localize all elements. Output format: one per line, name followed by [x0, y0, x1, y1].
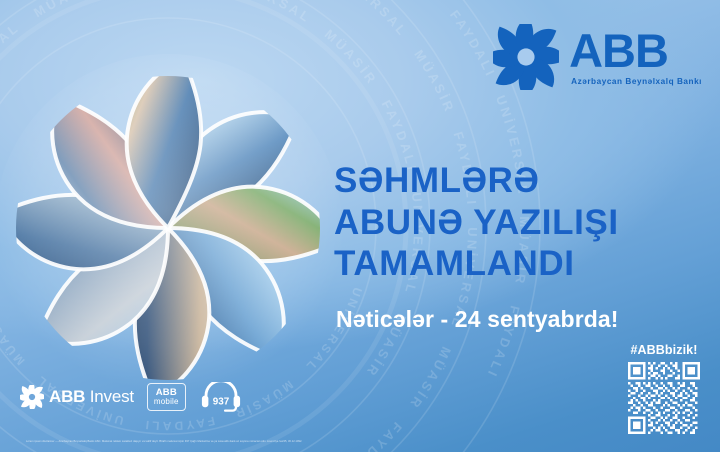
abb-tagline: Azərbaycan Beynəlxalq Bankı	[571, 78, 702, 86]
legal-fineprint: Lorem ipsum disclaimer — Azərbaycan Beyn…	[26, 440, 456, 444]
headline-line-2: ABUNƏ YAZILIŞI	[334, 202, 702, 244]
call-center-937-logo[interactable]: 937	[199, 382, 243, 412]
headset-icon: 937	[199, 382, 243, 412]
abb-mobile-logo[interactable]: ABB mobile	[147, 383, 186, 411]
abb-invest-logo[interactable]: ABB Invest	[20, 385, 134, 409]
qr-code-icon[interactable]	[628, 362, 700, 434]
abb-invest-light: Invest	[85, 387, 134, 406]
call-center-number: 937	[212, 397, 229, 408]
campaign-hashtag: #ABBbizik!	[631, 343, 698, 357]
abb-pinwheel-white-icon	[20, 385, 44, 409]
subline-results-date: Nəticələr - 24 sentyabrda!	[336, 306, 619, 333]
abb-mobile-line-2: mobile	[154, 398, 179, 406]
abb-invest-bold: ABB	[49, 387, 85, 406]
abb-campaign-banner: FAYDALI UNİVERSAL MÜASİR FAYDALI UNİVERS…	[0, 0, 720, 452]
pinwheel-photo-collage	[18, 78, 318, 378]
headline-block: SƏHMLƏRƏ ABUNƏ YAZILIŞI TAMAMLANDI	[334, 160, 702, 285]
headline-line-3: TAMAMLANDI	[334, 243, 702, 285]
partner-logo-strip: ABB Invest ABB mobile 937	[20, 382, 243, 412]
abb-wordmark: ABB	[569, 27, 668, 74]
headline-line-1: SƏHMLƏRƏ	[334, 160, 702, 202]
abb-pinwheel-icon	[493, 24, 559, 90]
abb-logo: ABB Azərbaycan Beynəlxalq Bankı	[493, 24, 702, 90]
qr-block[interactable]: #ABBbizik!	[628, 343, 700, 434]
